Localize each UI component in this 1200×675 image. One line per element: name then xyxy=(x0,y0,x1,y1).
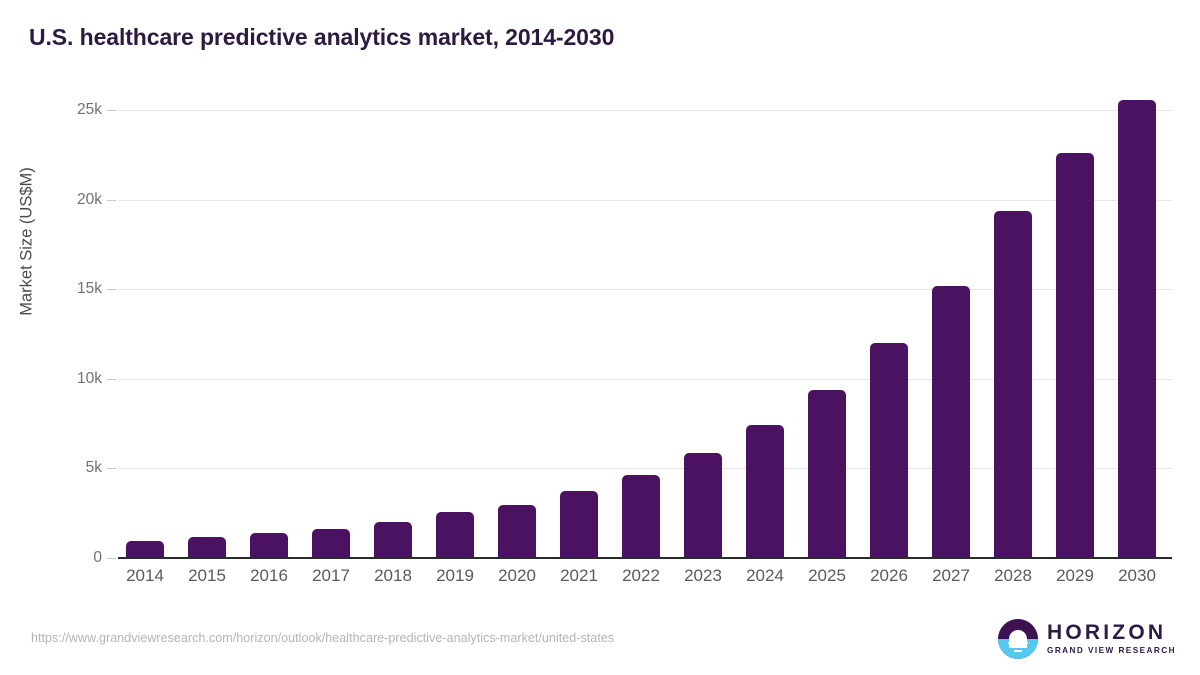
bar[interactable] xyxy=(188,537,226,558)
x-tick-label: 2026 xyxy=(858,566,920,586)
x-tick-label: 2022 xyxy=(610,566,672,586)
x-tick-label: 2024 xyxy=(734,566,796,586)
bar[interactable] xyxy=(746,425,784,559)
bar[interactable] xyxy=(808,390,846,558)
y-tick-mark xyxy=(107,468,116,469)
logo-wordmark: HORIZON xyxy=(1047,622,1176,643)
chart-title: U.S. healthcare predictive analytics mar… xyxy=(29,24,614,51)
bar[interactable] xyxy=(436,512,474,558)
logo-ray-1 xyxy=(1008,642,1028,644)
logo-ray-3 xyxy=(1014,650,1022,652)
bar[interactable] xyxy=(560,491,598,558)
x-tick-label: 2025 xyxy=(796,566,858,586)
horizon-logo: HORIZON GRAND VIEW RESEARCH xyxy=(998,618,1176,660)
bar[interactable] xyxy=(932,286,970,558)
y-tick-mark xyxy=(107,289,116,290)
y-axis-title: Market Size (US$M) xyxy=(18,92,37,392)
y-tick-label: 10k xyxy=(30,370,102,388)
bar[interactable] xyxy=(870,343,908,558)
x-tick-label: 2018 xyxy=(362,566,424,586)
bar[interactable] xyxy=(250,533,288,558)
x-tick-label: 2015 xyxy=(176,566,238,586)
logo-text: HORIZON GRAND VIEW RESEARCH xyxy=(1047,622,1176,655)
x-tick-label: 2029 xyxy=(1044,566,1106,586)
x-tick-label: 2028 xyxy=(982,566,1044,586)
y-tick-label: 5k xyxy=(30,459,102,477)
x-axis-line xyxy=(118,557,1172,559)
y-tick-mark xyxy=(107,200,116,201)
bar[interactable] xyxy=(1118,100,1156,558)
x-tick-label: 2027 xyxy=(920,566,982,586)
x-tick-label: 2021 xyxy=(548,566,610,586)
logo-ray-2 xyxy=(1011,646,1025,648)
plot-area xyxy=(118,110,1172,558)
bar[interactable] xyxy=(1056,153,1094,558)
bar[interactable] xyxy=(498,505,536,558)
x-tick-label: 2023 xyxy=(672,566,734,586)
y-tick-label: 20k xyxy=(30,191,102,209)
horizon-sun-icon xyxy=(998,619,1038,659)
gridline xyxy=(118,110,1172,111)
y-tick-label: 15k xyxy=(30,280,102,298)
y-tick-label: 0 xyxy=(30,549,102,567)
logo-tagline: GRAND VIEW RESEARCH xyxy=(1047,647,1176,655)
chart-card: U.S. healthcare predictive analytics mar… xyxy=(0,0,1200,675)
bar[interactable] xyxy=(994,211,1032,558)
x-tick-label: 2016 xyxy=(238,566,300,586)
y-tick-mark xyxy=(107,558,116,559)
bar[interactable] xyxy=(312,529,350,558)
x-tick-label: 2014 xyxy=(114,566,176,586)
bar[interactable] xyxy=(684,453,722,558)
bar[interactable] xyxy=(126,541,164,558)
bar[interactable] xyxy=(622,475,660,558)
source-url[interactable]: https://www.grandviewresearch.com/horizo… xyxy=(31,631,614,645)
x-tick-label: 2019 xyxy=(424,566,486,586)
x-tick-label: 2017 xyxy=(300,566,362,586)
y-tick-label: 25k xyxy=(30,101,102,119)
x-tick-label: 2030 xyxy=(1106,566,1168,586)
y-tick-mark xyxy=(107,379,116,380)
y-tick-mark xyxy=(107,110,116,111)
bar[interactable] xyxy=(374,522,412,558)
x-tick-label: 2020 xyxy=(486,566,548,586)
gridline xyxy=(118,200,1172,201)
